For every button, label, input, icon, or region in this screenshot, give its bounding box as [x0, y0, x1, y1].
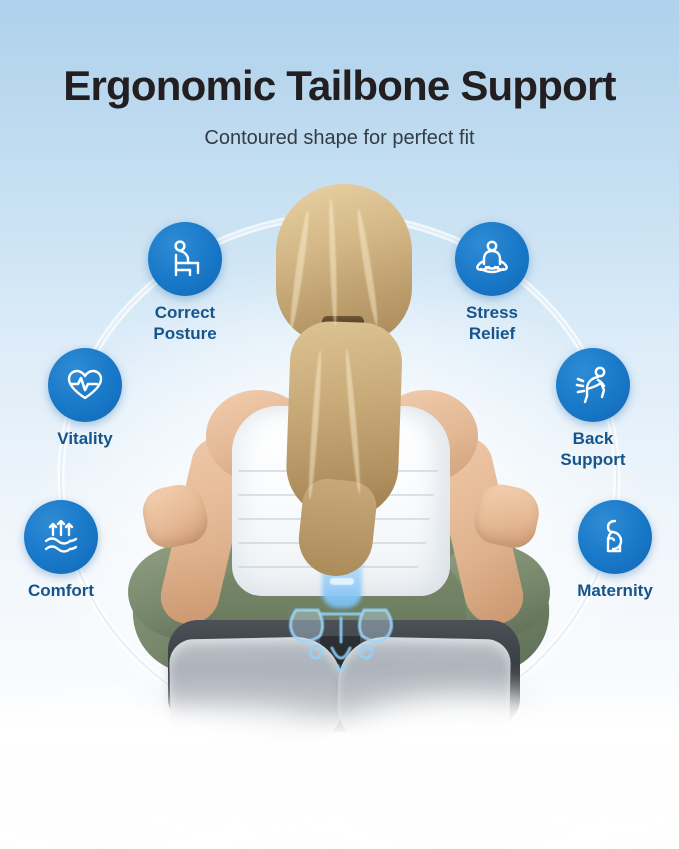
feature-badge-stress-relief[interactable]: Stress Relief	[455, 222, 529, 296]
badge-label: Stress Relief	[466, 302, 518, 344]
badge-circle	[148, 222, 222, 296]
badge-label: Correct Posture	[153, 302, 216, 344]
badge-circle	[578, 500, 652, 574]
page-title: Ergonomic Tailbone Support	[0, 60, 679, 112]
feature-badge-comfort[interactable]: Comfort	[24, 500, 98, 574]
page-subtitle: Contoured shape for perfect fit	[0, 124, 679, 152]
badge-circle	[556, 348, 630, 422]
badge-circle	[455, 222, 529, 296]
feature-badge-back-support[interactable]: Back Support	[556, 348, 630, 422]
badge-label: Comfort	[28, 580, 94, 601]
product-photo	[0, 150, 679, 810]
badge-label: Maternity	[577, 580, 653, 601]
product-marketing-image: Ergonomic Tailbone Support Contoured sha…	[0, 0, 679, 849]
badge-label: Back Support	[560, 428, 625, 470]
feature-badge-correct-posture[interactable]: Correct Posture	[148, 222, 222, 296]
lotus-meditation-icon	[470, 237, 514, 281]
back-pain-person-icon	[571, 363, 615, 407]
feature-badge-maternity[interactable]: Maternity	[578, 500, 652, 574]
pregnant-woman-icon	[593, 515, 637, 559]
badge-circle	[24, 500, 98, 574]
seated-person-icon	[163, 237, 207, 281]
heart-pulse-icon	[63, 363, 107, 407]
badge-label: Vitality	[57, 428, 112, 449]
badge-circle	[48, 348, 122, 422]
clouds	[0, 570, 679, 820]
feature-badge-vitality[interactable]: Vitality	[48, 348, 122, 422]
breathable-waves-icon	[39, 515, 83, 559]
